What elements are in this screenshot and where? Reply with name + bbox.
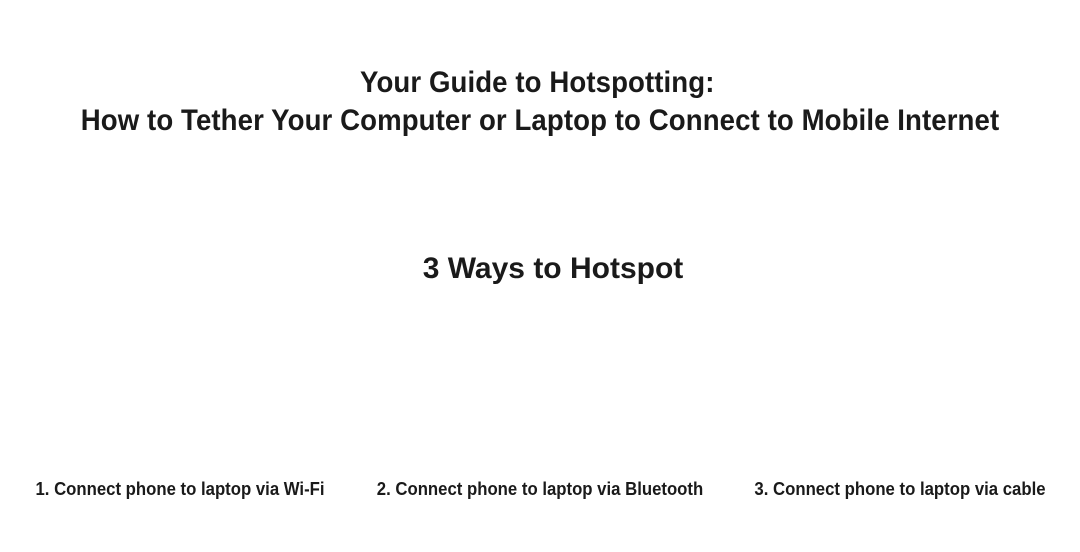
hotspot-method-wifi-illustration	[0, 288, 360, 478]
page-title-line-2: How to Tether Your Computer or Laptop to…	[43, 102, 1037, 140]
hotspot-methods-row: 1. Connect phone to laptop via Wi-Fi 2. …	[0, 288, 1080, 520]
hotspot-method-bluetooth: 2. Connect phone to laptop via Bluetooth	[360, 288, 720, 520]
hotspot-method-wifi: 1. Connect phone to laptop via Wi-Fi	[0, 288, 360, 520]
page-title: Your Guide to Hotspotting: How to Tether…	[43, 64, 1037, 140]
hotspot-method-cable: 3. Connect phone to laptop via cable	[720, 288, 1080, 520]
article-page: Your Guide to Hotspotting: How to Tether…	[0, 0, 1080, 552]
page-title-line-1: Your Guide to Hotspotting:	[38, 64, 1037, 102]
hotspot-method-bluetooth-caption: 2. Connect phone to laptop via Bluetooth	[373, 478, 708, 520]
hotspot-method-cable-illustration	[720, 288, 1080, 478]
hotspot-method-wifi-caption: 1. Connect phone to laptop via Wi-Fi	[13, 478, 348, 520]
hotspot-method-bluetooth-illustration	[360, 288, 720, 478]
section-heading: 3 Ways to Hotspot	[13, 251, 1080, 287]
hotspot-method-cable-caption: 3. Connect phone to laptop via cable	[733, 478, 1068, 520]
